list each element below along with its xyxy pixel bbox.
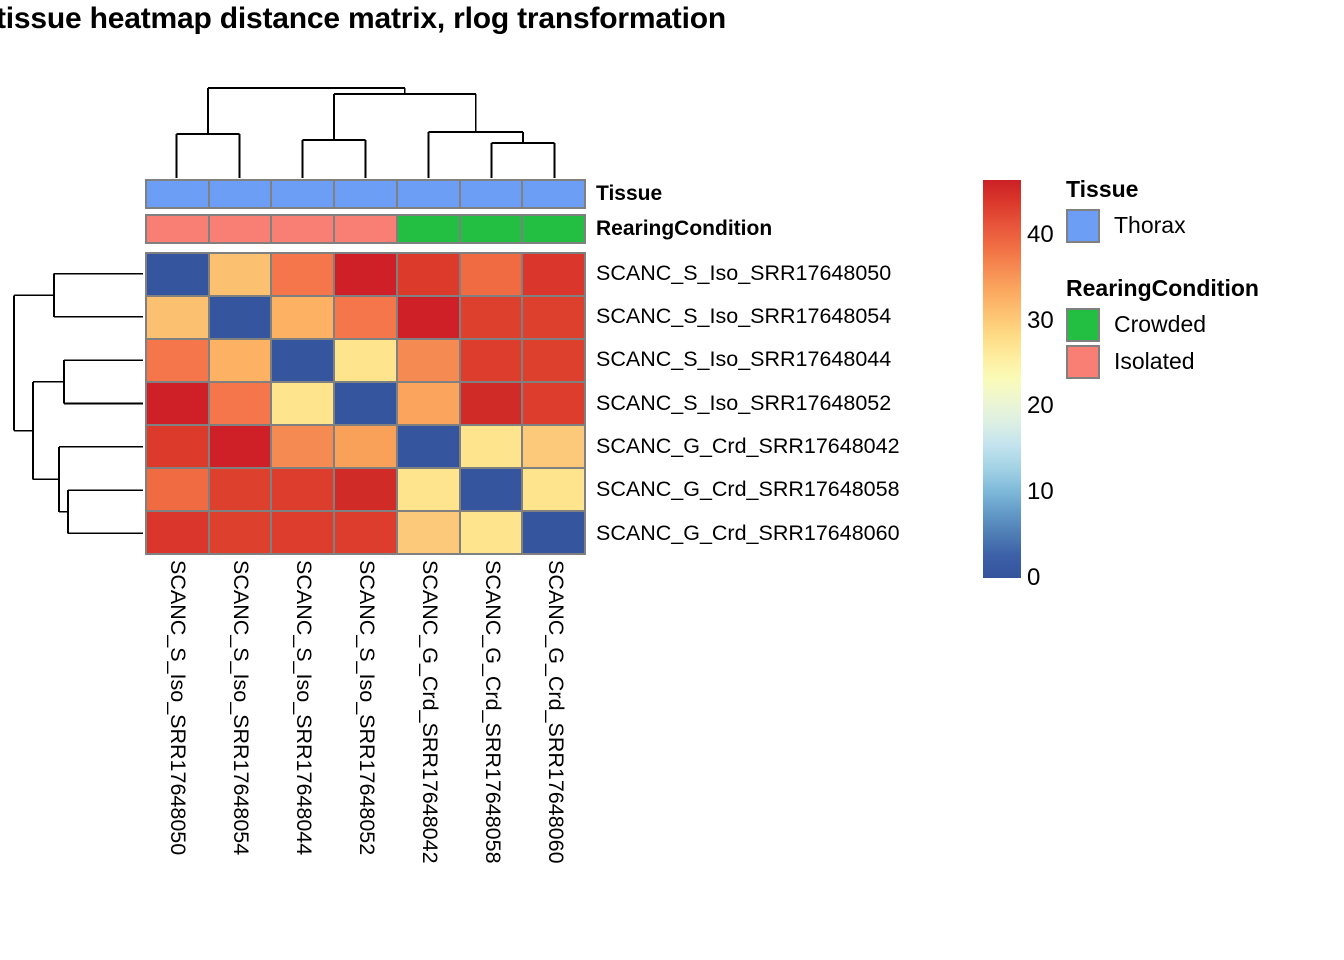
legend-rearingcondition: RearingConditionCrowdedIsolated <box>1066 275 1259 380</box>
heatmap-cell <box>210 512 271 553</box>
row-label: SCANC_S_Iso_SRR17648054 <box>596 295 900 338</box>
annotation-cell-tissue <box>523 181 584 207</box>
legend-entry-label: Thorax <box>1114 214 1186 237</box>
row-label: SCANC_G_Crd_SRR17648058 <box>596 468 900 511</box>
heatmap-cell <box>398 426 459 467</box>
column-label: SCANC_G_Crd_SRR17648042 <box>418 560 440 864</box>
annotation-cell-tissue <box>210 181 271 207</box>
row-dendrogram <box>6 252 143 555</box>
heatmap-cell <box>210 340 271 381</box>
legend-tissue: TissueThorax <box>1066 176 1186 244</box>
colorbar-tick-label: 40 <box>1027 223 1054 247</box>
row-label: SCANC_S_Iso_SRR17648050 <box>596 252 900 295</box>
heatmap-cell <box>147 254 208 295</box>
annotation-label-tissue: Tissue <box>596 179 662 209</box>
colorbar-tick-label: 0 <box>1027 566 1040 590</box>
row-label: SCANC_S_Iso_SRR17648044 <box>596 339 900 382</box>
column-label-list: SCANC_S_Iso_SRR17648050SCANC_S_Iso_SRR17… <box>145 560 586 956</box>
column-label: SCANC_S_Iso_SRR17648054 <box>229 560 251 855</box>
legend-entry-label: Crowded <box>1114 313 1206 336</box>
annotation-label-rearingcondition: RearingCondition <box>596 214 772 244</box>
annotation-cell-rearingcondition <box>523 216 584 242</box>
heatmap-cell <box>461 340 522 381</box>
heatmap-cell <box>147 426 208 467</box>
heatmap-cell <box>461 254 522 295</box>
annotation-cell-rearingcondition <box>335 216 396 242</box>
heatmap-cell <box>335 340 396 381</box>
heatmap-cell <box>335 512 396 553</box>
heatmap-cell <box>523 469 584 510</box>
column-label: SCANC_G_Crd_SRR17648060 <box>544 560 566 864</box>
heatmap-cell <box>398 383 459 424</box>
column-label: SCANC_S_Iso_SRR17648052 <box>355 560 377 855</box>
annotation-cell-rearingcondition <box>398 216 459 242</box>
annotation-cell-rearingcondition <box>272 216 333 242</box>
column-label: SCANC_G_Crd_SRR17648058 <box>481 560 503 864</box>
row-label-list: SCANC_S_Iso_SRR17648050SCANC_S_Iso_SRR17… <box>596 252 900 555</box>
column-label-slot: SCANC_S_Iso_SRR17648052 <box>334 560 397 956</box>
heatmap-cell <box>210 469 271 510</box>
column-label-slot: SCANC_S_Iso_SRR17648050 <box>145 560 208 956</box>
annotation-cell-rearingcondition <box>210 216 271 242</box>
heatmap-cell <box>272 426 333 467</box>
heatmap-cell <box>523 512 584 553</box>
heatmap-cell <box>210 297 271 338</box>
heatmap-cell <box>210 254 271 295</box>
column-label-slot: SCANC_G_Crd_SRR17648042 <box>397 560 460 956</box>
heatmap-figure: tissue heatmap distance matrix, rlog tra… <box>0 0 1344 960</box>
heatmap-matrix <box>145 252 586 555</box>
heatmap-cell <box>147 469 208 510</box>
column-dendrogram <box>145 44 586 178</box>
heatmap-cell <box>461 469 522 510</box>
legend-title: Tissue <box>1066 176 1186 202</box>
heatmap-cell <box>461 297 522 338</box>
heatmap-cell <box>272 254 333 295</box>
legend-swatch <box>1066 345 1100 379</box>
heatmap-cell <box>272 297 333 338</box>
heatmap-cell <box>272 383 333 424</box>
annotation-cell-tissue <box>147 181 208 207</box>
heatmap-cell <box>523 426 584 467</box>
heatmap-cell <box>335 426 396 467</box>
column-label: SCANC_S_Iso_SRR17648044 <box>292 560 314 855</box>
annotation-cell-tissue <box>461 181 522 207</box>
legend-swatch <box>1066 308 1100 342</box>
heatmap-cell <box>147 383 208 424</box>
colorbar-tick-label: 20 <box>1027 394 1054 418</box>
colorbar-tick-label: 30 <box>1027 309 1054 333</box>
page-title: tissue heatmap distance matrix, rlog tra… <box>0 2 726 36</box>
heatmap-cell <box>147 512 208 553</box>
column-label: SCANC_S_Iso_SRR17648050 <box>166 560 188 855</box>
colorbar-gradient <box>983 180 1021 578</box>
heatmap-cell <box>335 383 396 424</box>
legend-entry: Crowded <box>1066 306 1259 343</box>
heatmap-cell <box>398 469 459 510</box>
heatmap-cell <box>523 297 584 338</box>
annotation-bar-rearingcondition <box>145 214 586 244</box>
heatmap-cell <box>335 297 396 338</box>
legend-entry: Thorax <box>1066 207 1186 244</box>
heatmap-cell <box>461 383 522 424</box>
legend-title: RearingCondition <box>1066 275 1259 301</box>
colorbar <box>983 180 1021 578</box>
heatmap-cell <box>398 512 459 553</box>
heatmap-cell <box>523 254 584 295</box>
annotation-cell-tissue <box>272 181 333 207</box>
heatmap-cell <box>461 426 522 467</box>
heatmap-cell <box>147 340 208 381</box>
annotation-cell-tissue <box>335 181 396 207</box>
column-label-slot: SCANC_G_Crd_SRR17648060 <box>523 560 586 956</box>
annotation-cell-rearingcondition <box>147 216 208 242</box>
heatmap-cell <box>398 340 459 381</box>
heatmap-cell <box>523 340 584 381</box>
heatmap-cell <box>272 340 333 381</box>
heatmap-cell <box>272 469 333 510</box>
heatmap-cell <box>210 383 271 424</box>
annotation-cell-tissue <box>398 181 459 207</box>
annotation-bar-tissue <box>145 179 586 209</box>
heatmap-cell <box>335 469 396 510</box>
heatmap-cell <box>210 426 271 467</box>
legend-entry-label: Isolated <box>1114 350 1195 373</box>
colorbar-tick-label: 10 <box>1027 480 1054 504</box>
heatmap-cell <box>335 254 396 295</box>
legend-entry: Isolated <box>1066 343 1259 380</box>
heatmap-cell <box>461 512 522 553</box>
row-label: SCANC_S_Iso_SRR17648052 <box>596 382 900 425</box>
row-label: SCANC_G_Crd_SRR17648060 <box>596 512 900 555</box>
heatmap-cell <box>272 512 333 553</box>
column-label-slot: SCANC_G_Crd_SRR17648058 <box>460 560 523 956</box>
row-label: SCANC_G_Crd_SRR17648042 <box>596 425 900 468</box>
heatmap-cell <box>523 383 584 424</box>
column-label-slot: SCANC_S_Iso_SRR17648044 <box>271 560 334 956</box>
heatmap-cell <box>398 297 459 338</box>
heatmap-cell <box>398 254 459 295</box>
annotation-cell-rearingcondition <box>461 216 522 242</box>
legend-swatch <box>1066 209 1100 243</box>
column-label-slot: SCANC_S_Iso_SRR17648054 <box>208 560 271 956</box>
heatmap-cell <box>147 297 208 338</box>
